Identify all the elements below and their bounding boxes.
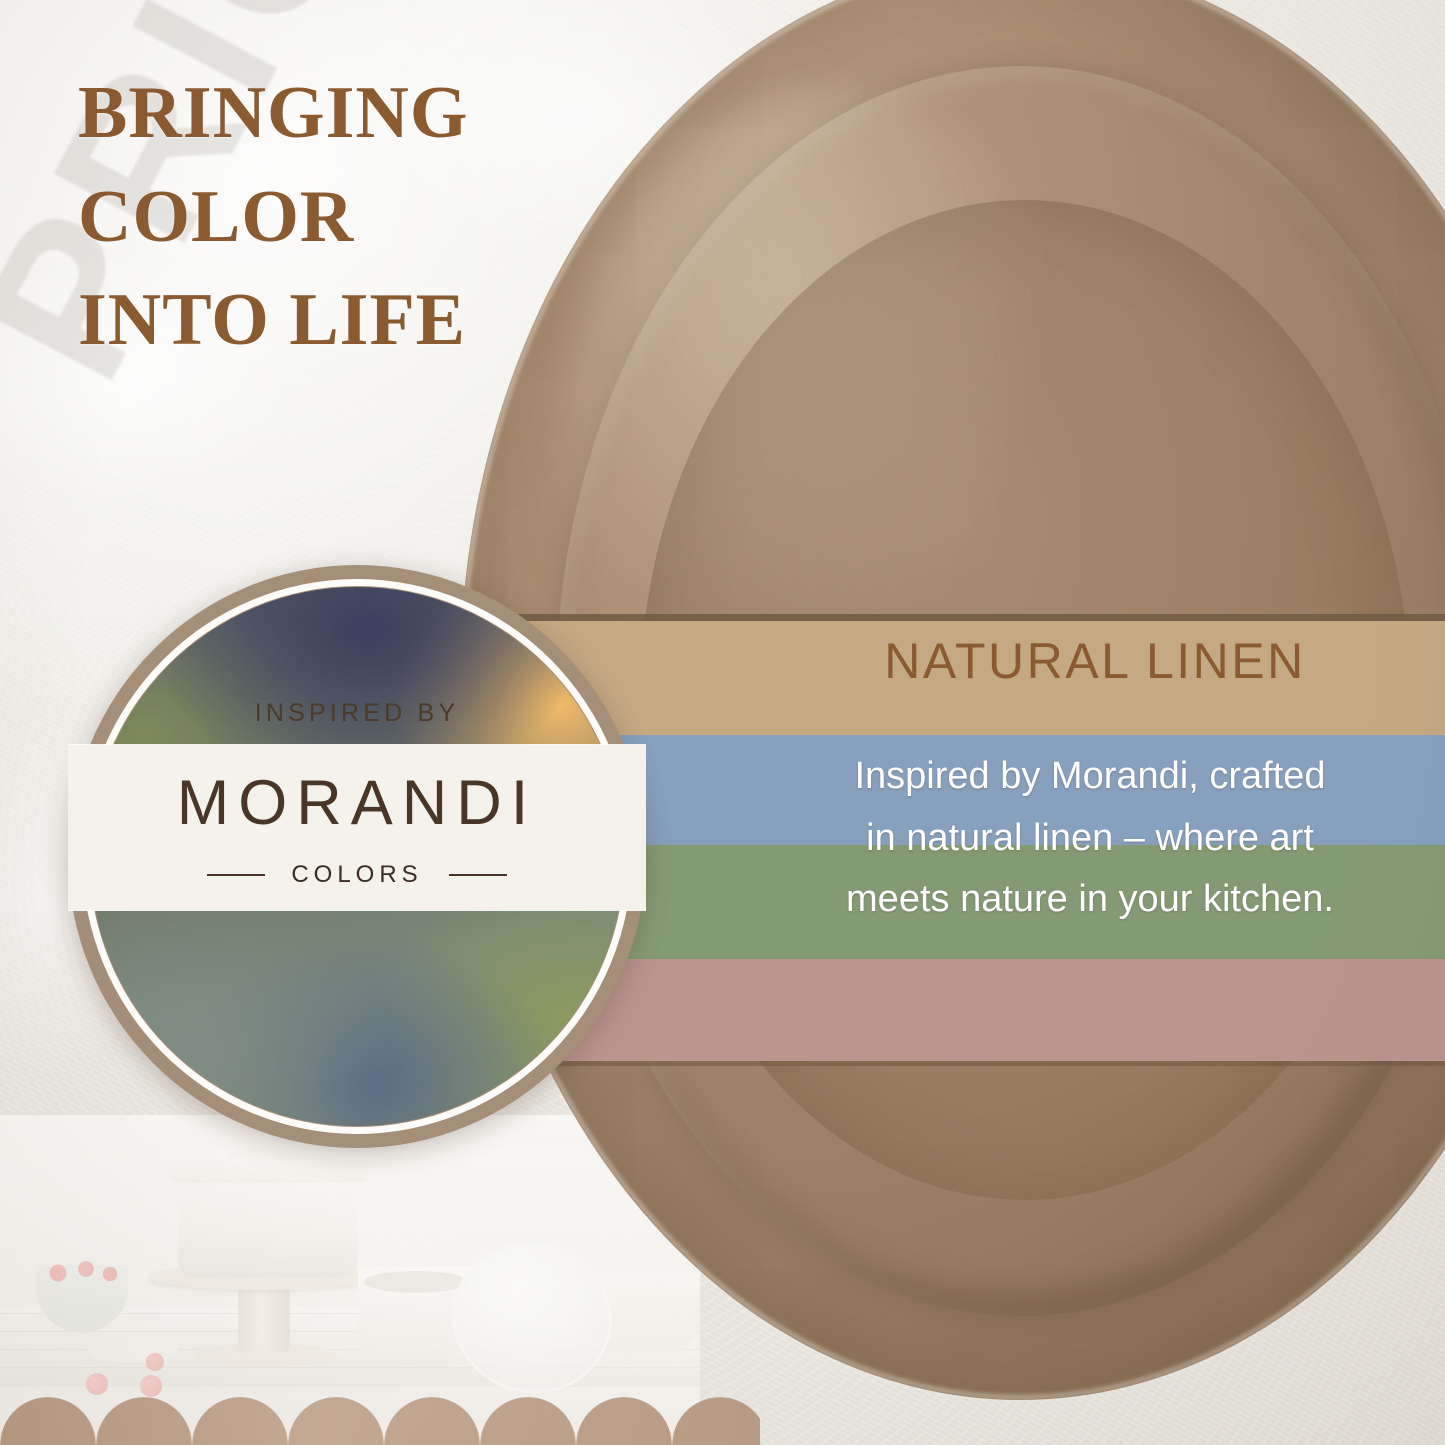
panel-body-line-2: in natural linen – where art (740, 808, 1440, 870)
badge-inspired-label: INSPIRED BY (68, 699, 646, 728)
headline-line-3: INTO LIFE (78, 269, 638, 373)
headline-line-2: COLOR (78, 166, 638, 270)
dash-right-icon (449, 874, 507, 876)
badge-subtitle-row: COLORS (68, 861, 646, 889)
page-title: BRINGING COLOR INTO LIFE (78, 62, 638, 373)
headline-line-1: BRINGING (78, 62, 638, 166)
promo-image-stage: PRIC BRINGING COLOR I (0, 0, 1445, 1445)
panel-body-line-3: meets nature in your kitchen. (740, 869, 1440, 931)
dash-left-icon (207, 874, 265, 876)
badge-brand-name: MORANDI (68, 767, 646, 839)
panel-body-text: Inspired by Morandi, crafted in natural … (740, 746, 1440, 931)
panel-body-line-1: Inspired by Morandi, crafted (740, 746, 1440, 808)
panel-heading: NATURAL LINEN (760, 632, 1430, 690)
morandi-badge: INSPIRED BY MORANDI COLORS (68, 565, 646, 1148)
badge-subtitle: COLORS (291, 861, 422, 889)
